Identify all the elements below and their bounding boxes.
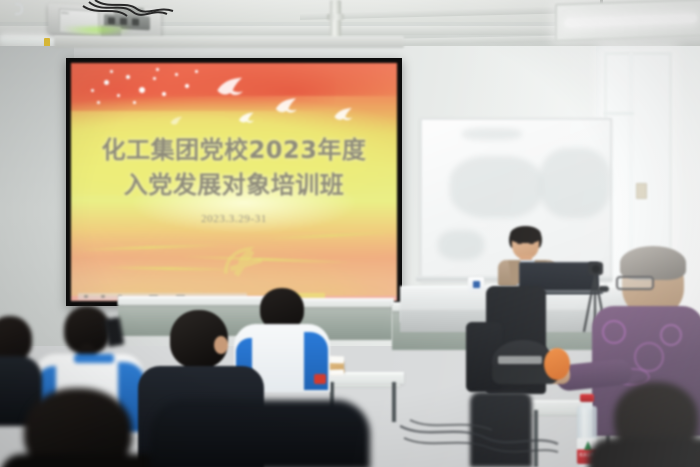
projection-screen-frame: 化工集团党校2023年度 入党发展对象培训班 2023.3.29-31 [66,58,402,306]
projection-screen: 化工集团党校2023年度 入党发展对象培训班 2023.3.29-31 [71,63,397,301]
screen-case [54,36,404,48]
floor-cables [400,418,560,458]
slide-title-line1: 化工集团党校2023年度 [71,137,397,163]
dove-icon [169,115,185,127]
light-tube [565,14,697,28]
slide-date: 2023.3.29-31 [71,213,397,225]
window-mullion [604,112,634,115]
cap-text-band [498,356,542,364]
coffee-mug [468,277,484,292]
wall-switch[interactable] [636,183,647,199]
slide-red-wave [162,63,397,96]
desk-top [296,298,394,307]
bottle-cap [580,394,594,402]
dove-icon [237,111,257,125]
camera-lens-icon [592,265,600,273]
mug-logo [473,281,480,288]
pipe-collar [327,14,344,20]
dove-icon [273,96,301,116]
cap-orange-patch [544,348,570,380]
presenter-hair [510,226,541,243]
mug-handle [15,3,23,15]
hammer-and-sickle-party-emblem [214,241,276,287]
dove-icon [332,106,356,123]
camera-head [588,262,603,275]
left-wall [0,46,74,346]
classroom-photo-scene: SPEC [0,0,700,467]
slide-title-line2: 入党发展对象培训班 [71,172,397,198]
fluorescent-ceiling-light [555,0,700,42]
eyeglasses-icon [616,276,654,290]
dove-icon [214,75,248,99]
